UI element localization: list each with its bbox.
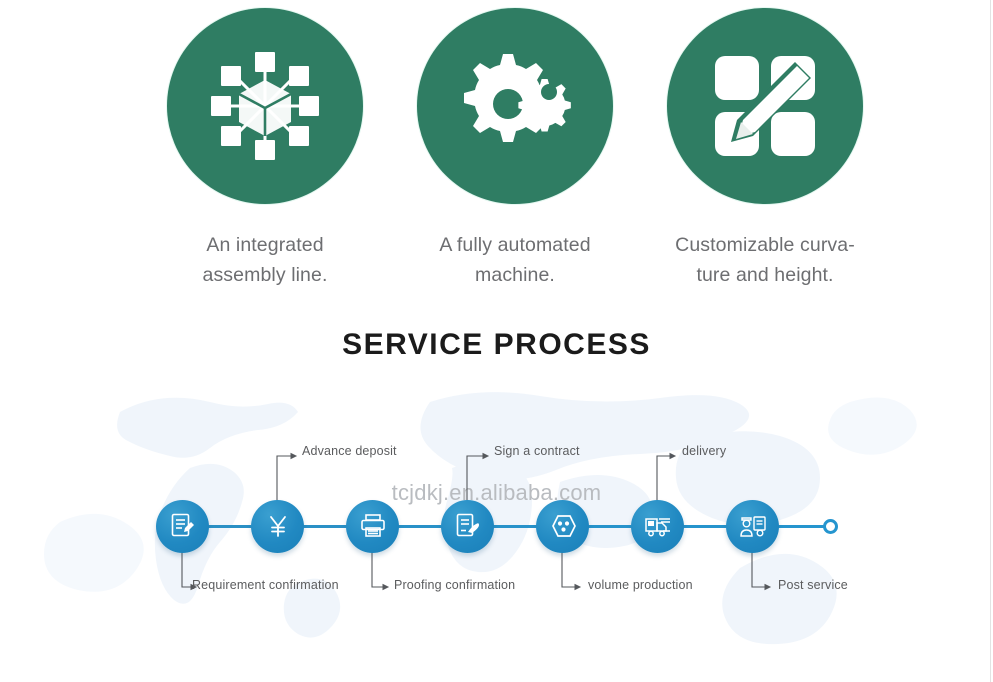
timeline-node-3[interactable] — [346, 500, 399, 553]
page-canvas: An integrated assembly line. — [0, 0, 993, 682]
document-edit-icon — [156, 500, 209, 541]
timeline-label-5: volume production — [588, 578, 693, 592]
timeline-node-7[interactable] — [726, 500, 779, 553]
hexagon-dots-icon — [536, 500, 589, 541]
feature-card-3: Customizable curva- ture and height. — [615, 8, 915, 290]
printer-icon — [346, 500, 399, 541]
feature-caption-3: Customizable curva- ture and height. — [615, 230, 915, 290]
timeline-end-marker — [823, 519, 838, 534]
feature-circle-2 — [417, 8, 613, 204]
edit-tiles-icon — [667, 8, 863, 168]
timeline-node-5[interactable] — [536, 500, 589, 553]
feature-circle-3 — [667, 8, 863, 204]
features-row: An integrated assembly line. — [0, 0, 993, 300]
feature-caption-3-line2: ture and height. — [615, 260, 915, 290]
timeline-label-4: Sign a contract — [494, 444, 580, 458]
page-right-border — [990, 0, 991, 682]
timeline-label-2: Advance deposit — [302, 444, 397, 458]
timeline-label-3: Proofing confirmation — [394, 578, 515, 592]
delivery-truck-icon — [631, 500, 684, 541]
timeline-node-1[interactable] — [156, 500, 209, 553]
support-agent-icon — [726, 500, 779, 541]
page-title: SERVICE PROCESS — [0, 328, 993, 362]
service-process-timeline: tcjdkj.en.alibaba.com — [0, 372, 993, 682]
network-cube-icon — [167, 8, 363, 168]
timeline-label-1: Requirement confirmation — [192, 578, 339, 592]
feature-circle-1 — [167, 8, 363, 204]
timeline-label-7: Post service — [778, 578, 848, 592]
timeline-node-6[interactable] — [631, 500, 684, 553]
gears-icon — [417, 8, 613, 168]
timeline-node-4[interactable] — [441, 500, 494, 553]
watermark-text: tcjdkj.en.alibaba.com — [0, 480, 993, 506]
yen-icon — [251, 500, 304, 541]
contract-sign-icon — [441, 500, 494, 541]
timeline-label-6: delivery — [682, 444, 726, 458]
timeline-node-2[interactable] — [251, 500, 304, 553]
feature-caption-3-line1: Customizable curva- — [615, 230, 915, 260]
